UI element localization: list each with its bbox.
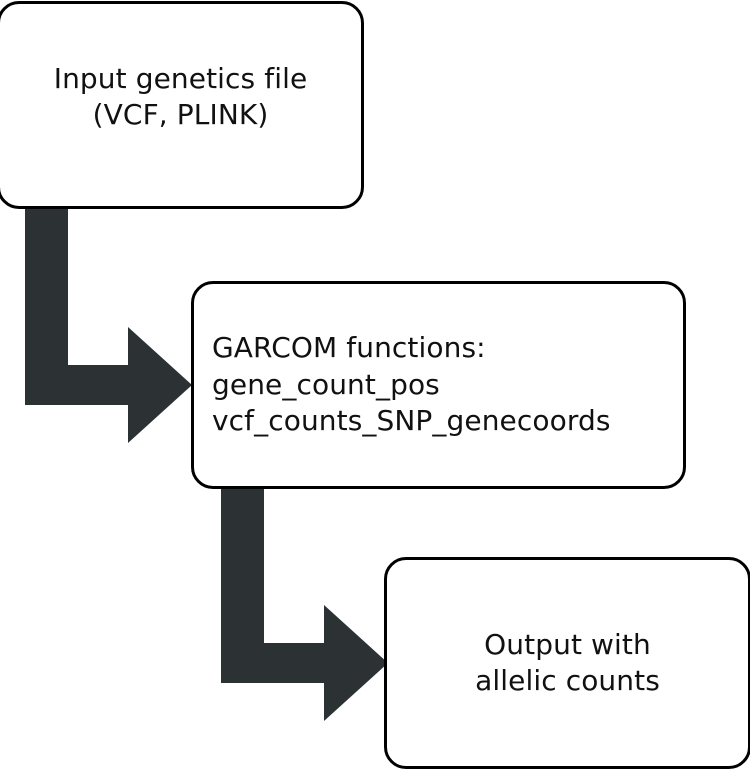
node-functions-line-3: vcf_counts_SNP_genecoords bbox=[212, 404, 611, 437]
node-output-label: Output withallelic counts bbox=[387, 627, 748, 700]
node-input-genetics-file[interactable]: Input genetics file(VCF, PLINK) bbox=[0, 1, 364, 209]
node-garcom-functions[interactable]: GARCOM functions:gene_count_posvcf_count… bbox=[191, 281, 686, 489]
node-output-line-2: allelic counts bbox=[475, 664, 660, 697]
flowchart-canvas: Input genetics file(VCF, PLINK) GARCOM f… bbox=[0, 0, 750, 770]
arrow-functions-to-output bbox=[221, 486, 388, 721]
node-functions-label: GARCOM functions:gene_count_posvcf_count… bbox=[194, 330, 683, 439]
node-input-line-1: Input genetics file bbox=[54, 62, 308, 95]
node-functions-line-1: GARCOM functions: bbox=[212, 331, 486, 364]
node-output-allelic-counts[interactable]: Output withallelic counts bbox=[384, 557, 750, 769]
node-output-line-1: Output with bbox=[484, 628, 651, 661]
arrow-input-to-functions bbox=[25, 205, 192, 443]
node-functions-line-2: gene_count_pos bbox=[212, 368, 440, 401]
node-input-line-2: (VCF, PLINK) bbox=[93, 98, 269, 131]
node-input-label: Input genetics file(VCF, PLINK) bbox=[0, 61, 361, 150]
